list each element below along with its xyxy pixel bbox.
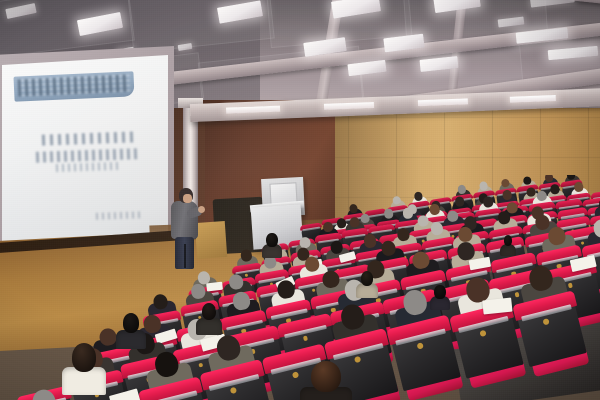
audience-member-head [383, 209, 393, 219]
audience-member-head [482, 196, 493, 208]
audience-member [500, 235, 516, 253]
audience-member-head [574, 182, 584, 192]
audience-member-front-left [62, 343, 106, 389]
audience-member-shoulders [196, 318, 222, 335]
audience-member-head [202, 303, 217, 320]
audience-member [196, 303, 222, 331]
ceiling-light [548, 46, 599, 60]
soffit-light [226, 106, 280, 114]
audience-member-head [454, 196, 464, 206]
audience-member-head [123, 313, 140, 333]
audience-member-head [434, 285, 445, 299]
audience-member-head [502, 190, 512, 200]
audience-member-head [361, 271, 373, 286]
ceiling-light [529, 0, 575, 8]
audience-seating [0, 175, 600, 400]
audience-member-head [311, 361, 340, 392]
audience-member [356, 271, 378, 295]
soffit-light [418, 98, 468, 106]
handout-paper [109, 388, 141, 400]
audience-member-head [550, 184, 560, 194]
audience-member-shoulders [500, 244, 516, 255]
audience-member-head [72, 343, 97, 372]
audience-member-front-center [300, 361, 352, 400]
audience-member [262, 233, 282, 255]
soffit-light [324, 102, 374, 110]
soffit-light [510, 95, 556, 103]
audience-member [430, 285, 450, 307]
audience-member [116, 313, 146, 345]
audience-member-head [266, 233, 277, 247]
lecture-hall-photo [0, 0, 600, 400]
